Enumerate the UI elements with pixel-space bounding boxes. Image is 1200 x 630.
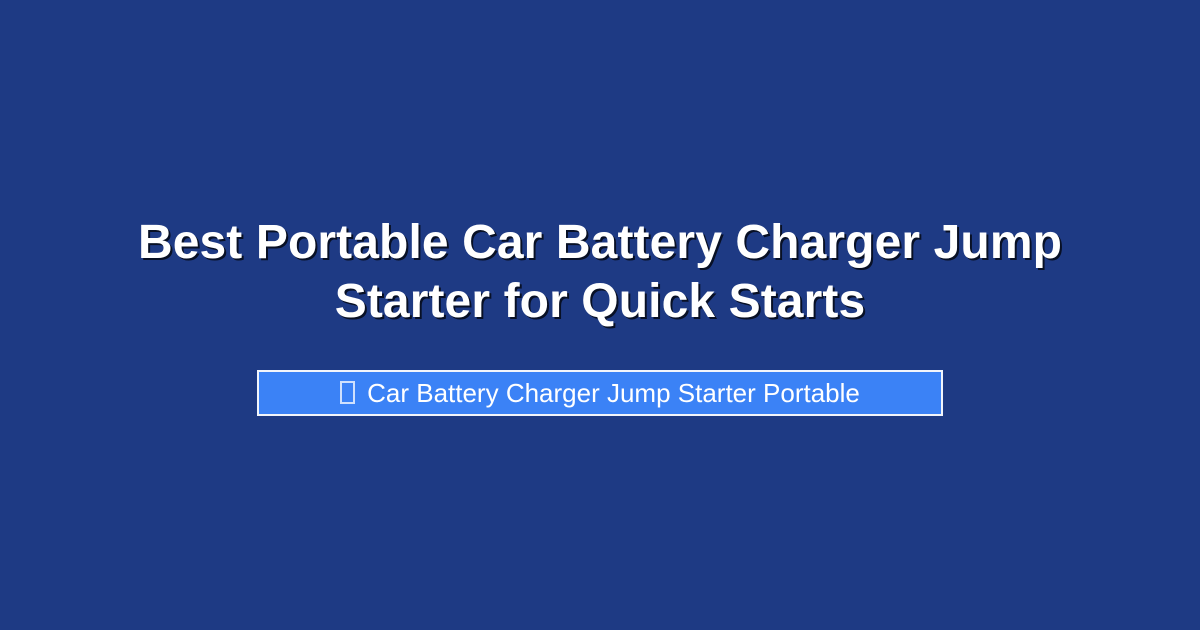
- page-title: Best Portable Car Battery Charger Jump S…: [85, 214, 1115, 331]
- missing-glyph-tofu-icon: [340, 381, 355, 404]
- product-keyword-button[interactable]: Car Battery Charger Jump Starter Portabl…: [257, 370, 943, 416]
- product-keyword-label: Car Battery Charger Jump Starter Portabl…: [367, 380, 860, 406]
- social-preview-card: Best Portable Car Battery Charger Jump S…: [0, 0, 1200, 630]
- badge-row: Car Battery Charger Jump Starter Portabl…: [60, 370, 1140, 416]
